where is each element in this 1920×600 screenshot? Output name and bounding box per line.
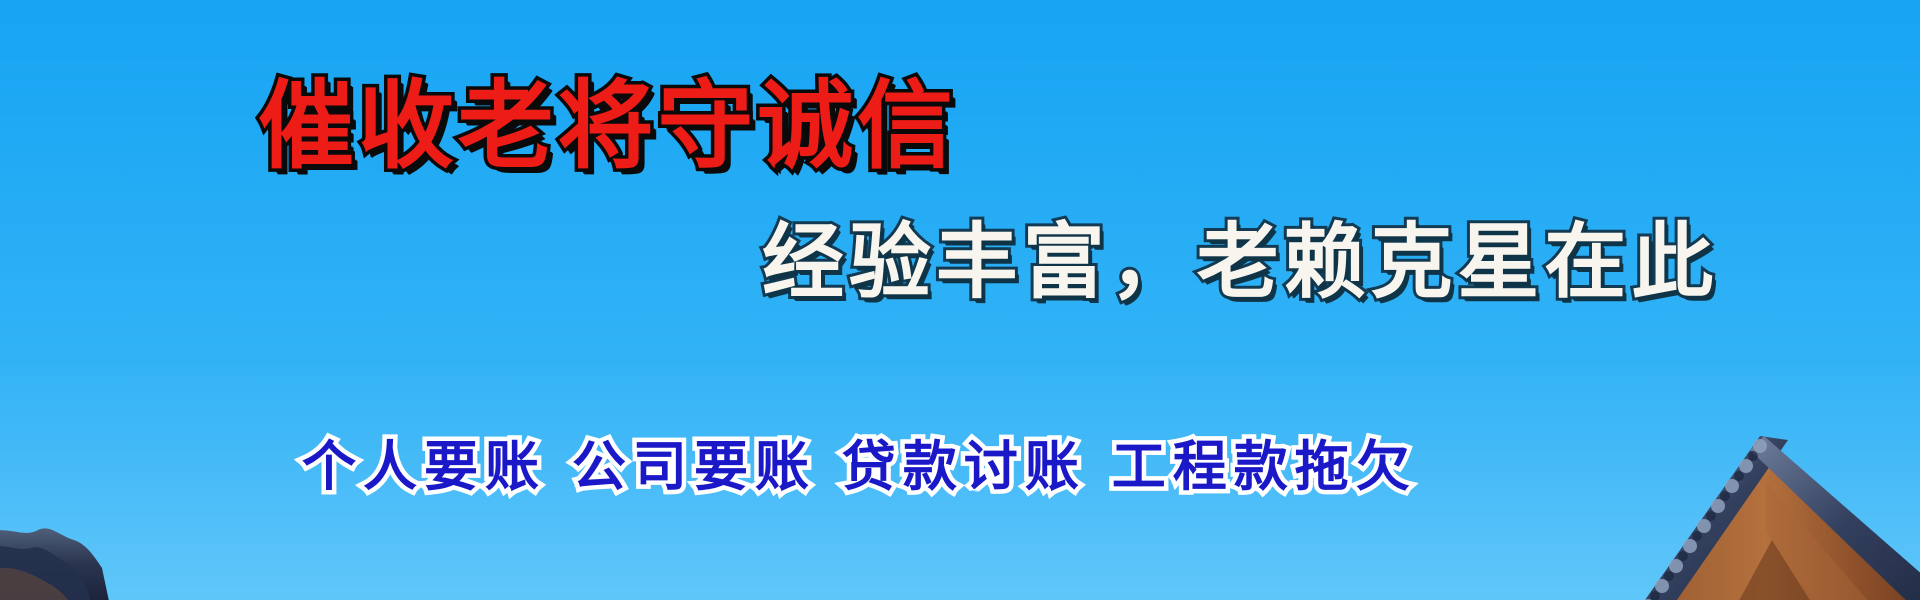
subtitle-text: 经验丰富，老赖克星在此 bbox=[762, 222, 1718, 304]
promo-banner: 催收老将守诚信 经验丰富，老赖克星在此 个人要账 公司要账 贷款讨账 工程款拖欠 bbox=[0, 0, 1920, 600]
temple-roof-right-icon bbox=[1520, 380, 1920, 600]
temple-roof-left-icon bbox=[0, 486, 290, 600]
page-title: 催收老将守诚信 bbox=[258, 78, 957, 174]
services-tagline: 个人要账 公司要账 贷款讨账 工程款拖欠 bbox=[302, 440, 1417, 494]
